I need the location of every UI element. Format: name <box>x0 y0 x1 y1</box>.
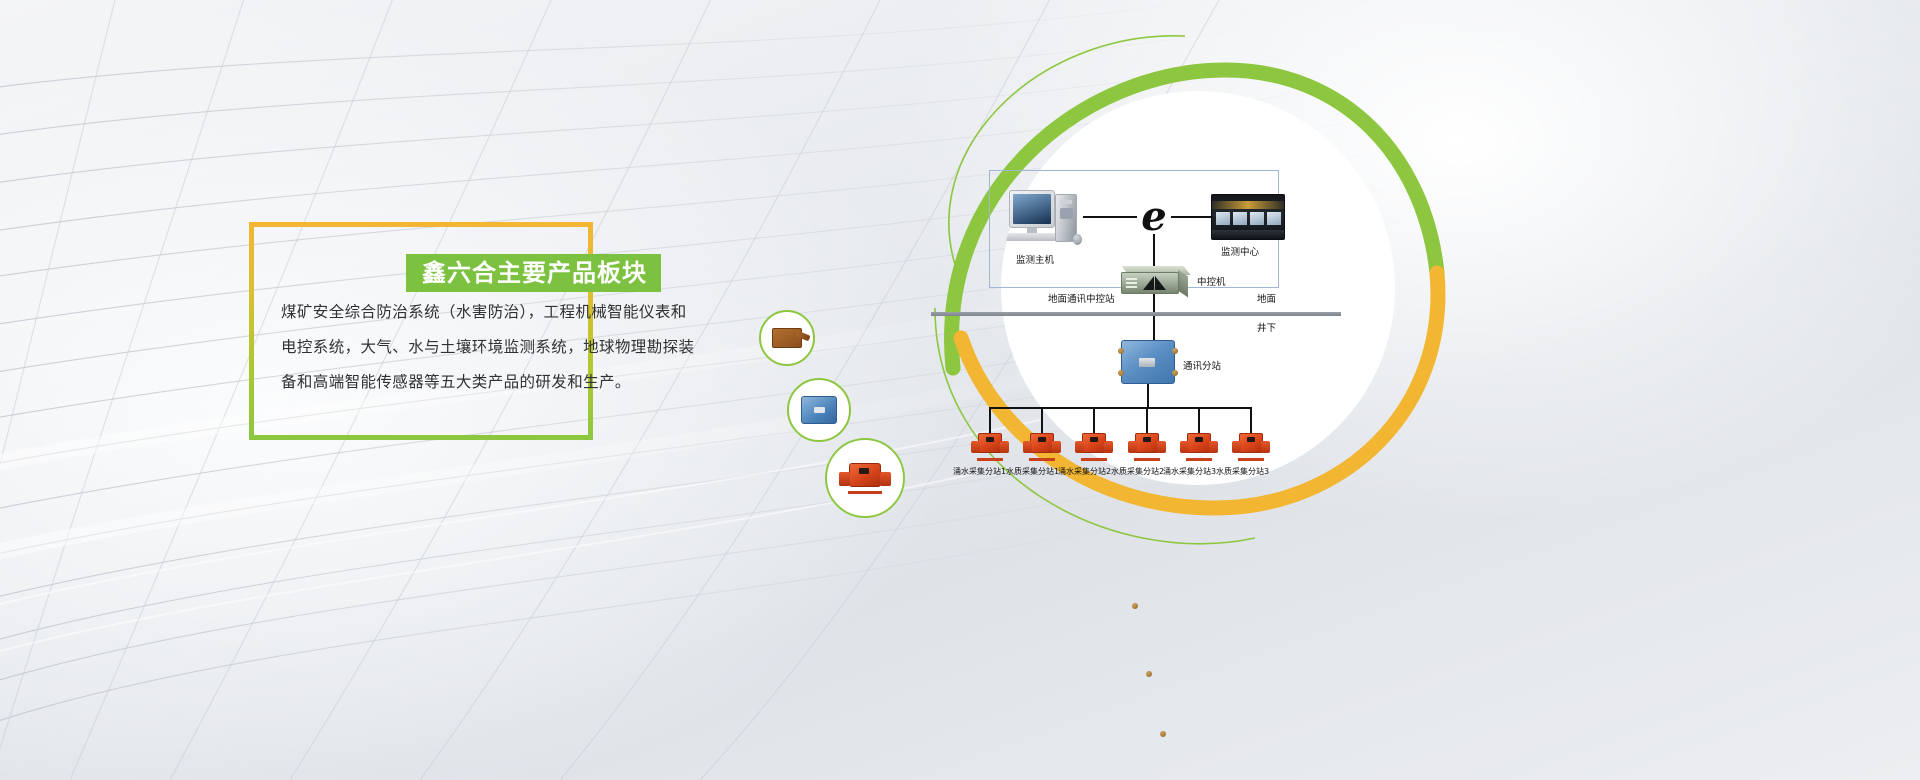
label-monitor-host: 监测主机 <box>1016 252 1054 266</box>
label-ground-station: 地面通讯中控站 <box>1048 291 1115 305</box>
label-monitor-center: 监测中心 <box>1221 244 1259 258</box>
surface-divider-line <box>931 312 1341 316</box>
wire-drop-5 <box>1198 407 1200 433</box>
label-comm-substation: 通讯分站 <box>1183 358 1221 372</box>
label-collector-5: 涌水采集分站3 <box>1163 466 1216 477</box>
description-line-3: 备和高端智能传感器等五大类产品的研发和生产。 <box>281 372 701 392</box>
description-line-2: 电控系统，大气、水与土壤环境监测系统，地球物理勘探装 <box>281 337 701 357</box>
wire-distribution-bus <box>989 407 1251 409</box>
collector-icon-2 <box>1023 431 1061 461</box>
description-line-1: 煤矿安全综合防治系统（水害防治），工程机械智能仪表和 <box>281 302 701 322</box>
wire-drop-1 <box>989 407 991 433</box>
banner-stage: 鑫六合主要产品板块 煤矿安全综合防治系统（水害防治），工程机械智能仪表和 电控系… <box>0 0 1920 780</box>
collector-icon-6 <box>1232 431 1270 461</box>
central-control-icon <box>1121 264 1191 298</box>
internet-icon: e <box>1136 196 1172 238</box>
brown-device-bubble[interactable] <box>759 310 815 366</box>
collector-icon-3 <box>1075 431 1113 461</box>
label-zone-below: 井下 <box>1257 320 1276 334</box>
wire-drop-6 <box>1250 407 1252 433</box>
collector-icon-4 <box>1128 431 1166 461</box>
wire-server-to-substation <box>1153 294 1155 342</box>
red-device-icon <box>839 461 891 495</box>
panel-border-bottom <box>249 435 593 440</box>
page-title: 鑫六合主要产品板块 <box>422 254 647 292</box>
collector-icon-5 <box>1180 431 1218 461</box>
collector-icon-1 <box>971 431 1009 461</box>
red-device-bubble[interactable] <box>825 438 905 518</box>
product-description: 煤矿安全综合防治系统（水害防治），工程机械智能仪表和 电控系统，大气、水与土壤环… <box>281 302 701 407</box>
label-collector-4: 水质采集分站2 <box>1111 466 1164 477</box>
comm-substation-icon <box>1121 340 1175 384</box>
monitor-center-icon <box>1211 194 1285 240</box>
label-collector-3: 涌水采集分站2 <box>1058 466 1111 477</box>
label-zone-above: 地面 <box>1257 291 1276 305</box>
wire-host-to-net <box>1083 216 1137 218</box>
label-central-control: 中控机 <box>1197 274 1226 288</box>
label-collector-6: 水质采集分站3 <box>1216 466 1269 477</box>
system-topology: 监测主机 e 监测中心 中控机 地面通讯中控站 地面 <box>905 48 1365 508</box>
blue-device-bubble[interactable] <box>787 378 851 442</box>
label-collector-2: 水质采集分站1 <box>1006 466 1059 477</box>
system-diagram-circle: 监测主机 e 监测中心 中控机 地面通讯中控站 地面 <box>905 48 1365 508</box>
monitor-host-icon <box>1009 188 1081 246</box>
wire-net-to-center <box>1171 216 1213 218</box>
panel-border-left <box>249 222 254 440</box>
panel-border-top <box>249 222 593 227</box>
page-title-band: 鑫六合主要产品板块 <box>406 254 661 292</box>
label-collector-1: 涌水采集分站1 <box>953 466 1006 477</box>
wire-drop-4 <box>1146 407 1148 433</box>
brown-device-icon <box>772 328 802 348</box>
wire-drop-2 <box>1041 407 1043 433</box>
wire-net-to-server <box>1153 234 1155 266</box>
blue-device-icon <box>801 396 837 424</box>
wire-substation-down <box>1147 384 1149 408</box>
wire-drop-3 <box>1093 407 1095 433</box>
